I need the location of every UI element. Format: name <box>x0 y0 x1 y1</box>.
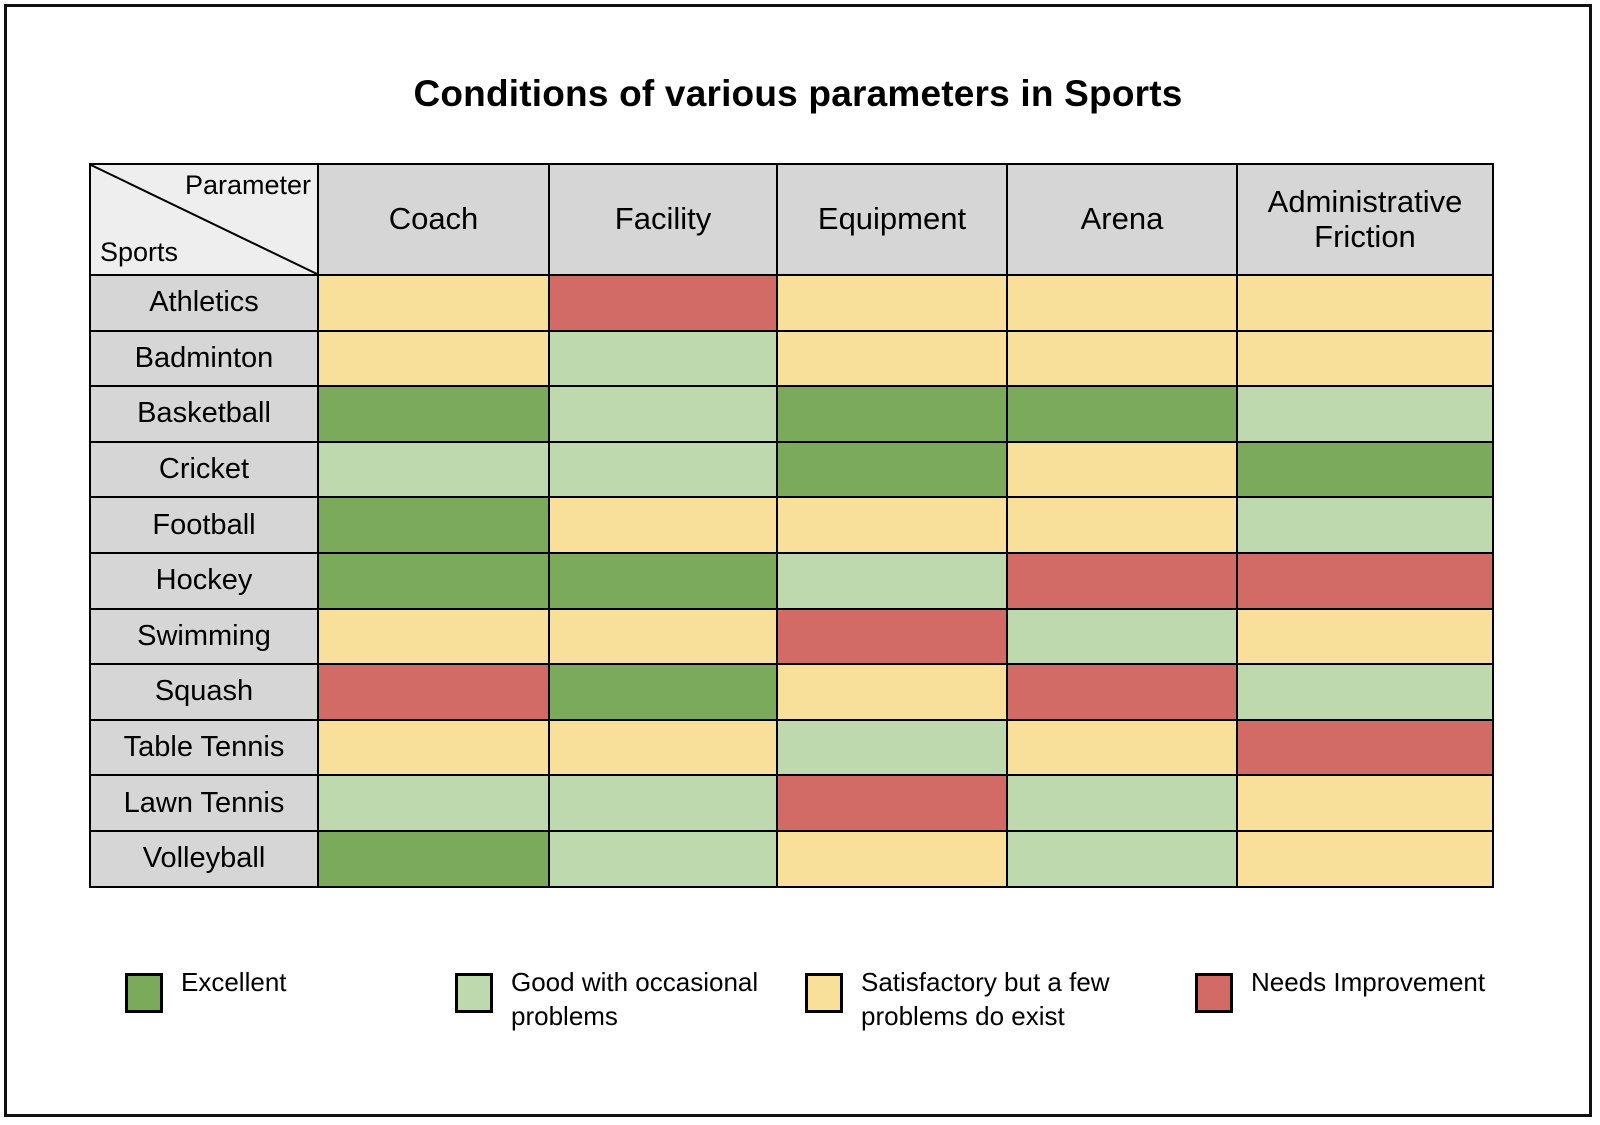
heatmap-cell <box>1237 775 1493 831</box>
heatmap-cell <box>1237 609 1493 665</box>
heatmap-cell <box>1007 442 1237 498</box>
heatmap-cell <box>1237 664 1493 720</box>
legend-label: Satisfactory but a few problems do exist <box>861 965 1131 1034</box>
column-header-coach: Coach <box>318 164 549 275</box>
row-header-athletics: Athletics <box>90 275 318 331</box>
heatmap-cell <box>549 275 777 331</box>
heatmap-cell <box>777 775 1007 831</box>
heatmap-cell <box>318 497 549 553</box>
heatmap-cell <box>777 831 1007 887</box>
heatmap-cell <box>318 442 549 498</box>
row-header-swimming: Swimming <box>90 609 318 665</box>
heatmap-cell <box>1007 386 1237 442</box>
heatmap-cell <box>1007 775 1237 831</box>
table-row: Athletics <box>90 275 1493 331</box>
table-header: Parameter Sports Coach Facility Equipmen… <box>90 164 1493 275</box>
table-row: Swimming <box>90 609 1493 665</box>
header-row: Parameter Sports Coach Facility Equipmen… <box>90 164 1493 275</box>
row-header-badminton: Badminton <box>90 331 318 387</box>
legend: ExcellentGood with occasional problemsSa… <box>125 965 1505 1034</box>
table-row: Football <box>90 497 1493 553</box>
table-row: Lawn Tennis <box>90 775 1493 831</box>
column-header-equipment: Equipment <box>777 164 1007 275</box>
heatmap-cell <box>549 609 777 665</box>
heatmap-cell <box>1007 331 1237 387</box>
heatmap-cell <box>549 720 777 776</box>
legend-label: Good with occasional problems <box>511 965 781 1034</box>
legend-item: Good with occasional problems <box>455 965 805 1034</box>
heatmap-cell <box>549 442 777 498</box>
row-header-squash: Squash <box>90 664 318 720</box>
heatmap-cell <box>549 386 777 442</box>
row-axis-label: Sports <box>100 237 178 268</box>
heatmap-cell <box>1237 331 1493 387</box>
row-header-lawn-tennis: Lawn Tennis <box>90 775 318 831</box>
legend-item: Satisfactory but a few problems do exist <box>805 965 1195 1034</box>
heatmap-cell <box>1237 497 1493 553</box>
row-header-basketball: Basketball <box>90 386 318 442</box>
heatmap-cell <box>1007 553 1237 609</box>
heatmap-cell <box>1237 831 1493 887</box>
legend-swatch-excellent <box>125 973 163 1013</box>
heatmap-cell <box>318 386 549 442</box>
table-row: Basketball <box>90 386 1493 442</box>
heatmap-cell <box>777 331 1007 387</box>
heatmap-cell <box>549 831 777 887</box>
row-header-hockey: Hockey <box>90 553 318 609</box>
heatmap-cell <box>318 775 549 831</box>
heatmap-cell <box>318 553 549 609</box>
heatmap-cell <box>777 497 1007 553</box>
table-row: Cricket <box>90 442 1493 498</box>
heatmap-cell <box>318 331 549 387</box>
row-header-cricket: Cricket <box>90 442 318 498</box>
legend-swatch-satisfactory <box>805 973 843 1013</box>
heatmap-cell <box>1237 275 1493 331</box>
heatmap-cell <box>318 831 549 887</box>
heatmap-cell <box>1237 442 1493 498</box>
heatmap-cell <box>777 553 1007 609</box>
column-header-arena: Arena <box>1007 164 1237 275</box>
figure-frame: Conditions of various parameters in Spor… <box>4 4 1592 1117</box>
heatmap-cell <box>1007 497 1237 553</box>
heatmap-cell <box>777 275 1007 331</box>
heatmap-cell <box>549 497 777 553</box>
column-axis-label: Parameter <box>185 170 311 201</box>
heatmap-cell <box>777 609 1007 665</box>
heatmap-cell <box>1007 275 1237 331</box>
heatmap-cell <box>1237 553 1493 609</box>
corner-axis-cell: Parameter Sports <box>90 164 318 275</box>
table-row: Table Tennis <box>90 720 1493 776</box>
legend-swatch-needs <box>1195 973 1233 1013</box>
heatmap-cell <box>1007 720 1237 776</box>
table-body: AthleticsBadmintonBasketballCricketFootb… <box>90 275 1493 887</box>
legend-item: Excellent <box>125 965 455 1013</box>
legend-label: Excellent <box>181 965 287 999</box>
heatmap-cell <box>1007 609 1237 665</box>
heatmap-cell <box>318 275 549 331</box>
row-header-table-tennis: Table Tennis <box>90 720 318 776</box>
heatmap-cell <box>1237 720 1493 776</box>
heatmap-cell <box>1007 664 1237 720</box>
heatmap-cell <box>777 720 1007 776</box>
heatmap-cell <box>549 775 777 831</box>
legend-swatch-good <box>455 973 493 1013</box>
heatmap-cell <box>318 664 549 720</box>
heatmap-cell <box>318 720 549 776</box>
heatmap-cell <box>1237 386 1493 442</box>
conditions-matrix-table: Parameter Sports Coach Facility Equipmen… <box>89 163 1494 888</box>
heatmap-cell <box>318 609 549 665</box>
column-header-administrative-friction: Administrative Friction <box>1237 164 1493 275</box>
row-header-football: Football <box>90 497 318 553</box>
row-header-volleyball: Volleyball <box>90 831 318 887</box>
table-row: Squash <box>90 664 1493 720</box>
heatmap-cell <box>549 331 777 387</box>
heatmap-cell <box>777 386 1007 442</box>
heatmap-cell <box>549 664 777 720</box>
heatmap-cell <box>777 664 1007 720</box>
heatmap-cell <box>549 553 777 609</box>
column-header-facility: Facility <box>549 164 777 275</box>
heatmap-cell <box>777 442 1007 498</box>
heatmap-cell <box>1007 831 1237 887</box>
legend-label: Needs Improvement <box>1251 965 1485 999</box>
page-title: Conditions of various parameters in Spor… <box>7 73 1589 115</box>
table-row: Badminton <box>90 331 1493 387</box>
table-row: Volleyball <box>90 831 1493 887</box>
legend-item: Needs Improvement <box>1195 965 1495 1013</box>
table-row: Hockey <box>90 553 1493 609</box>
